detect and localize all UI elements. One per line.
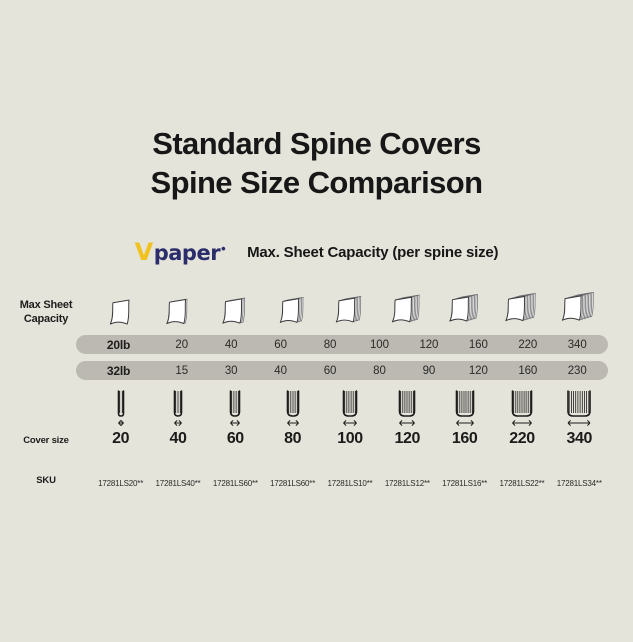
paper-stack-icon [551,276,608,332]
sku-label: SKU [0,474,92,488]
title-line-1: Standard Spine Covers [0,124,633,163]
cover-size-cell: 100 [321,430,378,448]
paper-stack-glyph [275,292,311,330]
capacity-cell-20lb: 160 [454,339,503,351]
spine-cross-section-icon [321,388,378,428]
capacity-cell-32lb: 230 [553,365,602,377]
spine-cross-section-glyph [390,388,425,428]
capacity-row-32lb: 32lb 153040608090120160230 [76,361,608,380]
capacity-cell-32lb: 80 [355,365,404,377]
sku-cell-text: 17281LS60** [213,479,258,488]
page-title: Standard Spine Covers Spine Size Compari… [0,124,633,202]
spine-cross-section-icon [207,388,264,428]
cover-size-cell-text: 160 [452,430,478,447]
paper-stack-icon [321,276,378,332]
capacity-cell-32lb: 120 [454,365,503,377]
spine-cross-section-glyph [446,388,483,428]
sku-cell-text: 17281LS22** [499,479,544,488]
logo-v-icon: V [135,240,153,264]
spine-cross-section-icon [436,388,493,428]
cover-size-cell-text: 220 [509,430,535,447]
capacity-values-32lb: 153040608090120160230 [157,365,602,377]
brand-row: V paper • Max. Sheet Capacity (per spine… [0,240,633,264]
spine-cross-section-glyph [221,388,250,428]
capacity-cell-32lb: 30 [206,365,255,377]
sku-cell: 17281LS34** [551,473,608,491]
capacity-cell-32lb: 90 [404,365,453,377]
cover-size-cell: 20 [92,430,149,448]
cover-size-cell: 120 [379,430,436,448]
cover-size-cell: 220 [493,430,550,448]
sku-cell: 17281LS22** [493,473,550,491]
paper-stack-icon [149,276,206,332]
sku-cell-text: 17281LS16** [442,479,487,488]
paper-stack-icon-row [92,276,608,332]
spine-cross-section-icon [149,388,206,428]
capacity-values-20lb: 20406080100120160220340 [157,339,602,351]
paper-stack-icon [92,276,149,332]
cover-size-cell: 80 [264,430,321,448]
capacity-cell-20lb: 120 [404,339,453,351]
row-label-20lb: 20lb [90,338,147,352]
sku-cell-text: 17281LS60** [270,479,315,488]
spine-cross-section-glyph [164,388,191,428]
max-sheet-capacity-label: Max Sheet Capacity [0,298,92,326]
paper-stack-glyph [500,288,543,330]
sku-cell: 17281LS60** [264,473,321,491]
spine-cross-section-glyph [277,388,308,428]
spine-size-comparison-infographic: { "title": { "line1": "Standard Spine Co… [0,0,633,642]
row-label-32lb: 32lb [90,364,147,378]
cover-size-value-row: 20406080100120160220340 [92,430,608,448]
spine-cross-section-glyph [502,388,541,428]
cover-size-cell-text: 100 [337,430,363,447]
paper-stack-icon [436,276,493,332]
capacity-cell-32lb: 60 [305,365,354,377]
capacity-cell-20lb: 220 [503,339,552,351]
cover-size-cell-text: 80 [284,430,301,447]
cover-size-label: Cover size [0,434,92,448]
logo-wordmark: paper [154,243,220,264]
sku-cell: 17281LS40** [149,473,206,491]
sku-cell-text: 17281LS20** [98,479,143,488]
spine-cross-section-icon [493,388,550,428]
paper-stack-glyph [387,290,427,330]
spine-cross-section-icon [551,388,608,428]
cover-size-cell-text: 20 [112,430,129,447]
max-sheet-capacity-line-1: Max Sheet [0,298,92,312]
subtitle: Max. Sheet Capacity (per spine size) [247,244,498,261]
spine-cross-section-icon [92,388,149,428]
paper-stack-glyph [557,287,601,330]
cover-size-cell-text: 40 [169,430,186,447]
sku-cell: 17281LS60** [207,473,264,491]
cover-size-cell-text: 60 [227,430,244,447]
capacity-cell-20lb: 100 [355,339,404,351]
cover-size-cell: 40 [149,430,206,448]
capacity-cell-20lb: 340 [553,339,602,351]
spine-cross-section-glyph [558,388,600,428]
capacity-cell-20lb: 80 [305,339,354,351]
sku-cell: 17281LS12** [379,473,436,491]
paper-stack-glyph [161,294,194,330]
sku-cell-text: 17281LS12** [385,479,430,488]
capacity-cell-32lb: 15 [157,365,206,377]
sku-cell-text: 17281LS40** [156,479,201,488]
sku-cell-text: 17281LS34** [557,479,602,488]
capacity-cell-20lb: 60 [256,339,305,351]
sku-cell: 17281LS16** [436,473,493,491]
paper-stack-icon [264,276,321,332]
paper-stack-glyph [444,289,485,330]
cover-size-cell-text: 340 [567,430,593,447]
paper-stack-icon [207,276,264,332]
vpaper-logo: V paper • [135,240,225,264]
max-sheet-capacity-line-2: Capacity [0,312,92,326]
sku-cell-text: 17281LS10** [327,479,372,488]
spine-cross-section-glyph [333,388,366,428]
logo-dot-icon: • [221,242,225,255]
capacity-cell-32lb: 160 [503,365,552,377]
spine-cross-section-icon [264,388,321,428]
cover-size-cell: 60 [207,430,264,448]
sku-value-row: 17281LS20**17281LS40**17281LS60**17281LS… [92,473,608,491]
capacity-cell-20lb: 20 [157,339,206,351]
sku-cell: 17281LS10** [321,473,378,491]
spine-cross-section-icon-row [92,388,608,428]
cover-size-cell-text: 120 [395,430,421,447]
paper-stack-icon [493,276,550,332]
paper-stack-glyph [218,293,253,330]
paper-stack-glyph [331,291,369,330]
paper-stack-glyph [105,295,137,330]
cover-size-cell: 160 [436,430,493,448]
capacity-cell-20lb: 40 [206,339,255,351]
spine-cross-section-icon [379,388,436,428]
cover-size-cell: 340 [551,430,608,448]
title-line-2: Spine Size Comparison [0,163,633,202]
paper-stack-icon [379,276,436,332]
spine-cross-section-glyph [108,388,133,428]
capacity-cell-32lb: 40 [256,365,305,377]
sku-cell: 17281LS20** [92,473,149,491]
capacity-row-20lb: 20lb 20406080100120160220340 [76,335,608,354]
